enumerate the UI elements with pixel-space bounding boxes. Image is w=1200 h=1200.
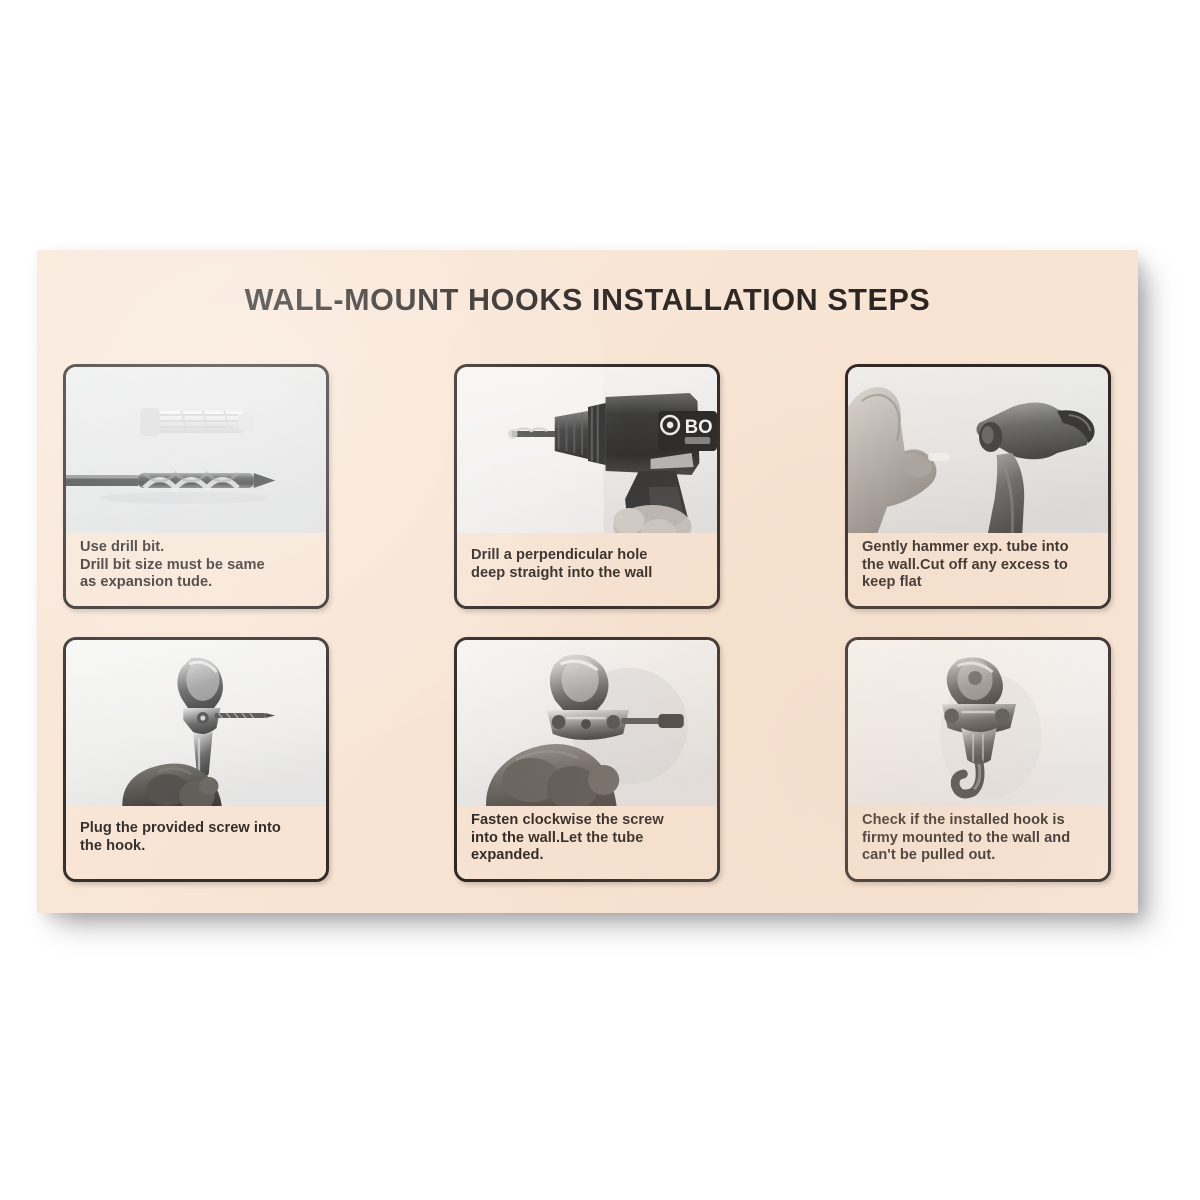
- step-5-illustration: [457, 640, 717, 812]
- page-title: WALL-MOUNT HOOKS INSTALLATION STEPS: [37, 283, 1138, 318]
- step-3-illustration: [848, 367, 1108, 539]
- step-caption-1: Use drill bit. Drill bit size must be sa…: [66, 533, 326, 606]
- step-4-illustration: [66, 640, 326, 812]
- step-6-illustration: [848, 640, 1108, 812]
- drill-bit-and-expansion-tube-photo: [66, 367, 326, 539]
- step-caption-6: Check if the installed hook is firmy mou…: [848, 806, 1108, 879]
- step-caption-5: Fasten clockwise the screw into the wall…: [457, 806, 717, 879]
- step-2-illustration: BO: [457, 367, 717, 539]
- step-panel-1: Use drill bit. Drill bit size must be sa…: [63, 364, 329, 609]
- fastening-hook-to-wall-photo: [457, 640, 717, 812]
- step-1-illustration: [66, 367, 326, 539]
- page-canvas: WALL-MOUNT HOOKS INSTALLATION STEPS: [0, 0, 1200, 1200]
- step-caption-3: Gently hammer exp. tube into the wall.Cu…: [848, 533, 1108, 606]
- step-panel-6: Check if the installed hook is firmy mou…: [845, 637, 1111, 882]
- step-panel-4: Plug the provided screw into the hook.: [63, 637, 329, 882]
- steps-grid: Use drill bit. Drill bit size must be sa…: [63, 364, 1112, 882]
- hand-holding-hook-with-screw-photo: [66, 640, 326, 812]
- step-panel-3: Gently hammer exp. tube into the wall.Cu…: [845, 364, 1111, 609]
- hand-and-hammer-photo: [848, 367, 1108, 539]
- instruction-poster-card: WALL-MOUNT HOOKS INSTALLATION STEPS: [37, 250, 1138, 913]
- cordless-drill-drilling-wall-photo: BO: [457, 367, 717, 539]
- step-caption-2: Drill a perpendicular hole deep straight…: [457, 533, 717, 606]
- step-panel-5: Fasten clockwise the screw into the wall…: [454, 637, 720, 882]
- step-caption-4: Plug the provided screw into the hook.: [66, 806, 326, 879]
- installed-hook-on-wall-photo: [848, 640, 1108, 812]
- tool-brand-text: BO: [685, 416, 713, 437]
- step-panel-2: BO Drill a perpendicular hole deep strai…: [454, 364, 720, 609]
